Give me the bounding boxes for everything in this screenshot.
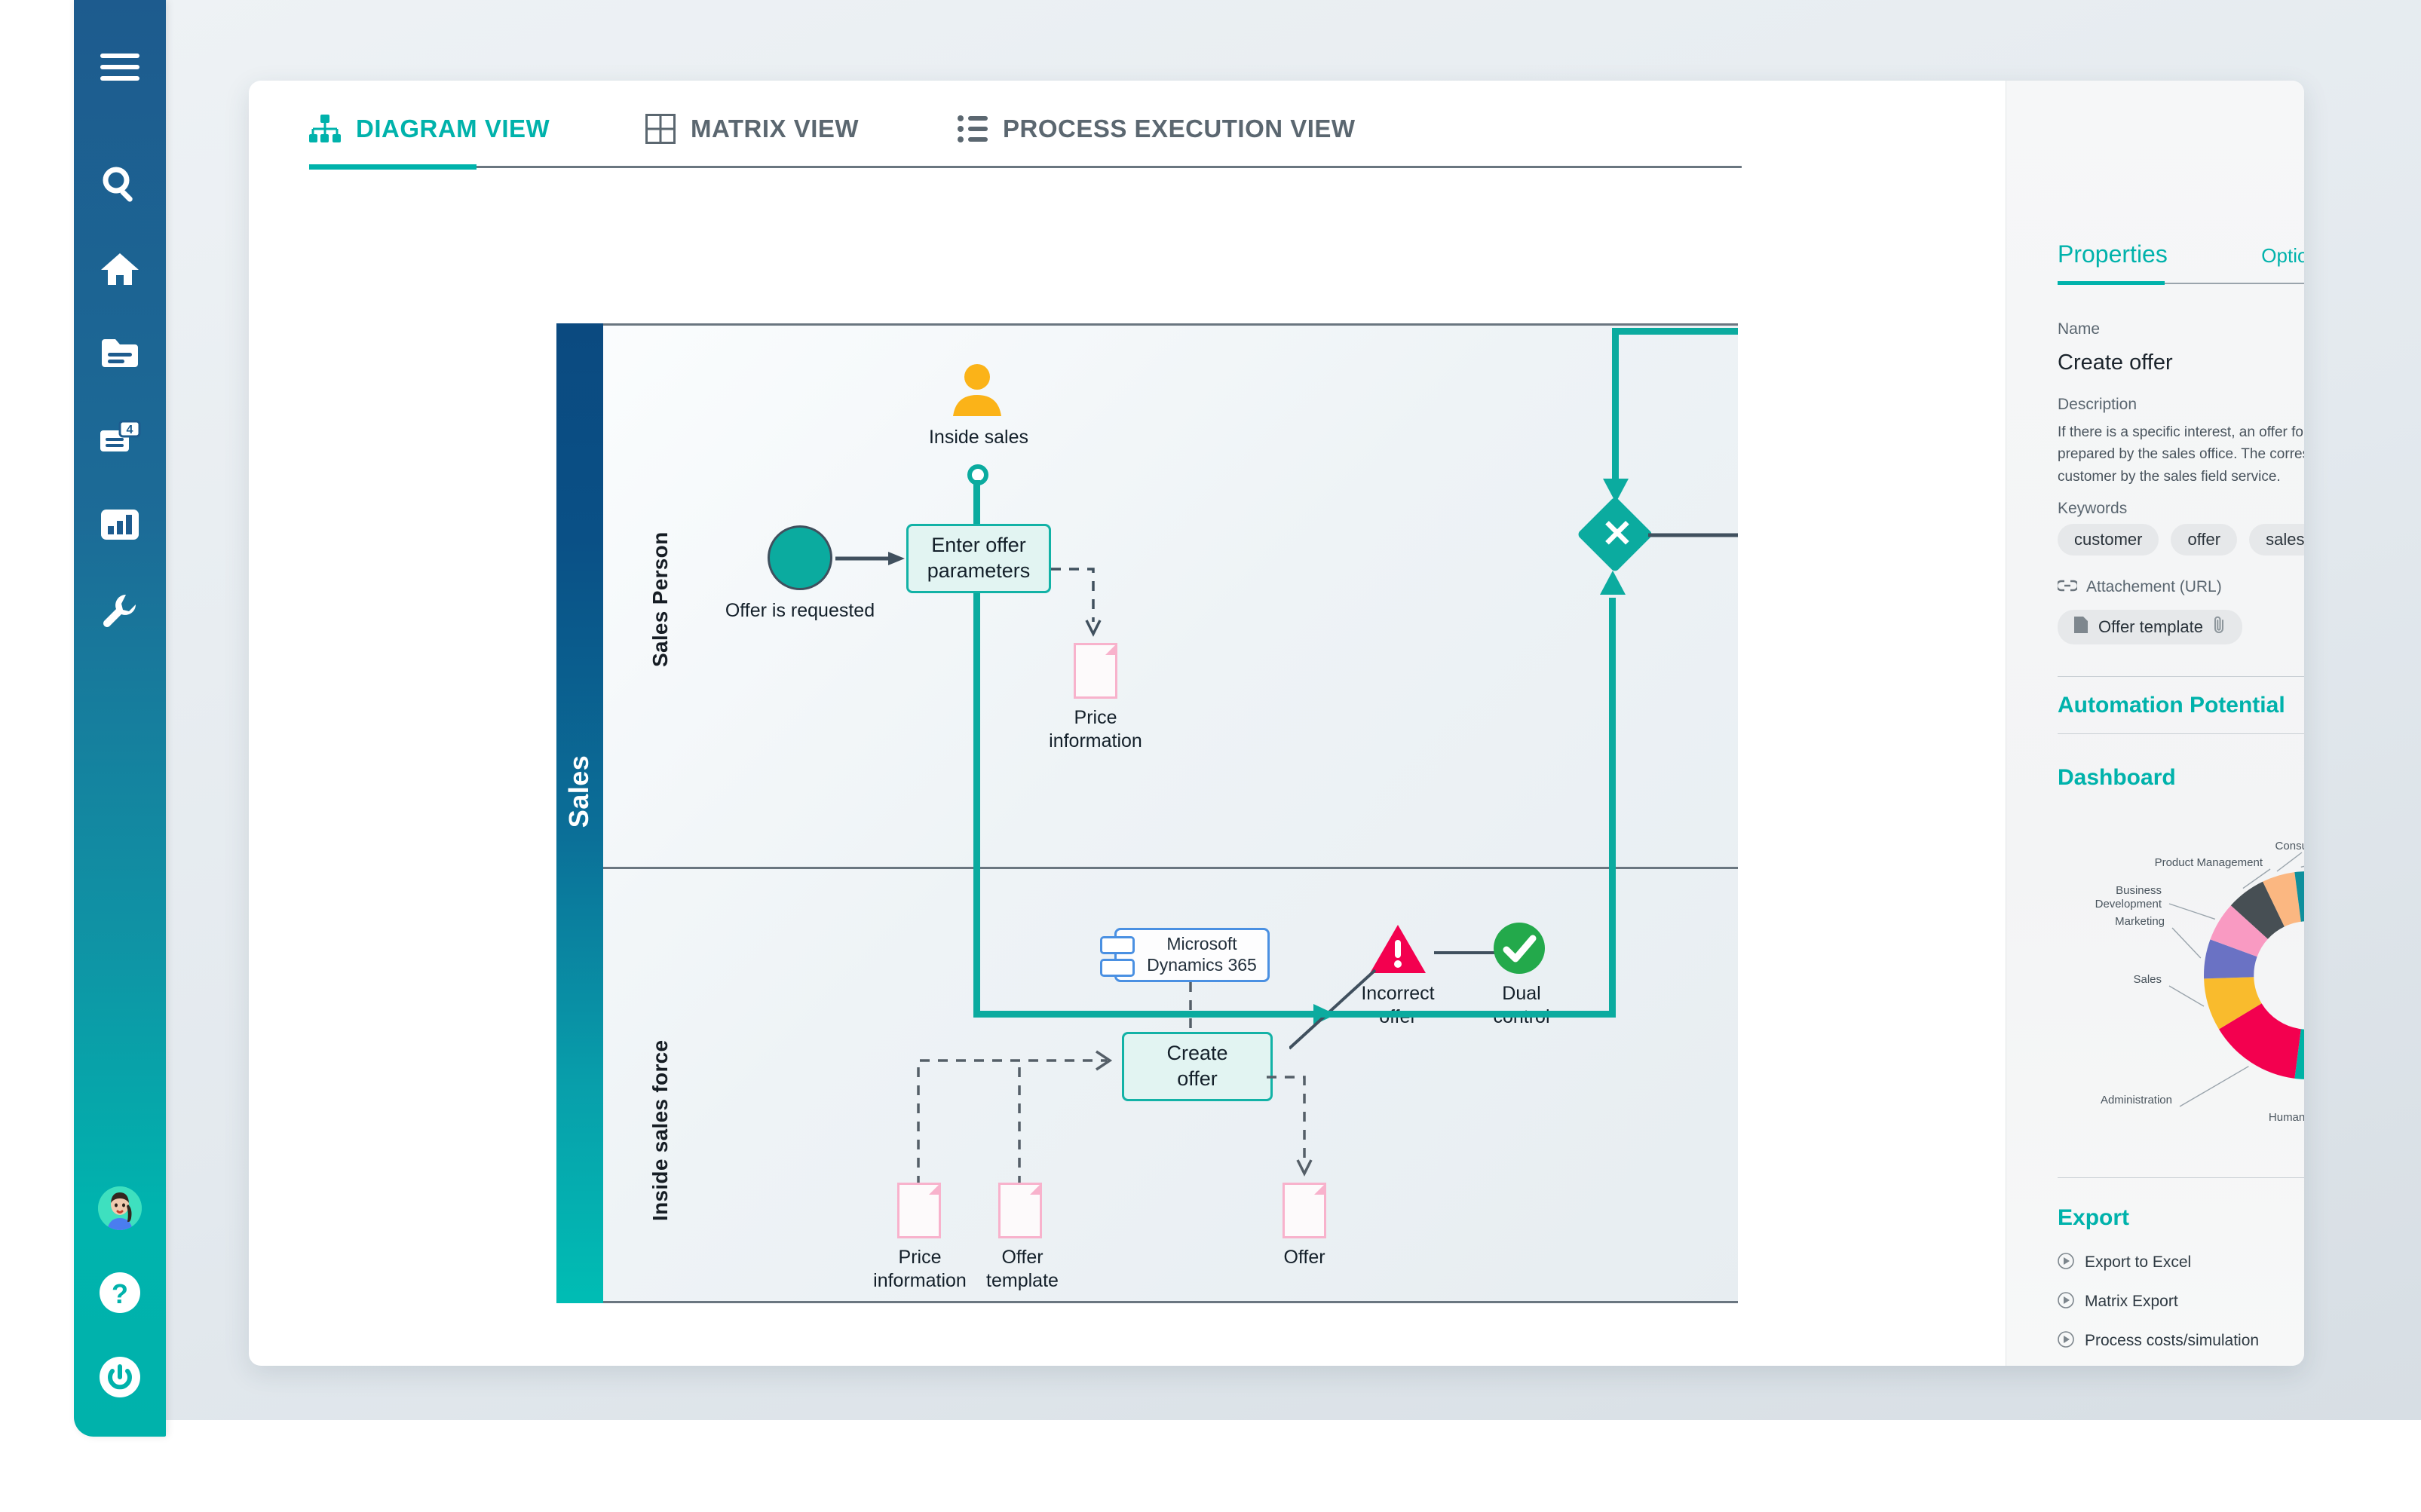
description-value[interactable]: If there is a specific interest, an offe… <box>2058 421 2304 488</box>
document-price-information-top[interactable] <box>1074 643 1117 699</box>
tab-matrix-view-label: MATRIX VIEW <box>691 115 859 143</box>
swimlane-pool-area <box>556 323 1738 1303</box>
document-offer-bottom[interactable] <box>1283 1183 1326 1238</box>
export-title: Export <box>2058 1205 2129 1231</box>
avatar[interactable] <box>74 1185 166 1232</box>
flow-enter-offer-down <box>973 593 980 1017</box>
question-mark-icon[interactable]: ? <box>74 1269 166 1316</box>
flow-top-horizontal <box>1612 328 1738 335</box>
donut-label-administration: Administration <box>2101 1094 2172 1106</box>
donut-label-sales: Sales <box>2133 973 2162 986</box>
keyword-chip-customer[interactable]: customer <box>2058 524 2159 556</box>
donut-leader-line <box>2169 904 2215 919</box>
tab-options[interactable]: Options <box>2261 244 2304 278</box>
svg-text:?: ? <box>112 1278 128 1309</box>
pool-label: Sales <box>563 686 595 897</box>
power-icon[interactable] <box>74 1354 166 1400</box>
keyword-chip-sales[interactable]: sales <box>2249 524 2304 556</box>
donut-leader-line <box>2277 852 2302 871</box>
tab-process-execution-view-label: PROCESS EXECUTION VIEW <box>1003 115 1356 143</box>
org-chart-icon <box>309 114 341 144</box>
association-create-offer-to-offer-doc <box>1265 1068 1333 1185</box>
properties-panel-tabs: Properties Options <box>2058 240 2304 279</box>
keyword-chip-offer[interactable]: offer <box>2171 524 2237 556</box>
connector-risk-to-control <box>1434 946 1496 960</box>
lane-label-inside-sales-force: Inside sales force <box>648 1040 673 1221</box>
system-microsoft-dynamics-365-bottom-label: Microsoft Dynamics 365 <box>1147 934 1257 975</box>
donut-label-business-development: BusinessDevelopment <box>2095 884 2162 911</box>
lane-label-sales-person: Sales Person <box>648 532 673 667</box>
sequence-flow-gateway-to-create-offer <box>1648 526 1738 548</box>
start-event[interactable] <box>768 525 832 590</box>
donut-label-marketing: Marketing <box>2115 915 2165 928</box>
flow-create-offer-to-gateway-h <box>1273 1011 1616 1018</box>
name-label: Name <box>2058 320 2100 338</box>
keywords-chips: customer offer sales <box>2058 524 2304 556</box>
message-badge-count: 4 <box>127 424 133 436</box>
automation-potential-title: Automation Potential <box>2058 693 2285 718</box>
screenshot-root: 4 ? <box>0 0 2421 1512</box>
grid-icon <box>645 114 676 144</box>
start-event-label: Offer is requested <box>707 599 893 623</box>
donut-label-consulting: Consulting <box>2275 840 2304 852</box>
pool-band-sales: Sales <box>556 323 603 1303</box>
export-row-export-to-excel[interactable]: Export to Excel <box>2058 1250 2304 1275</box>
properties-tab-underline <box>2058 281 2165 285</box>
attachment-value: Offer template <box>2098 617 2203 637</box>
task-create-offer-bottom[interactable]: Create offer <box>1122 1032 1273 1101</box>
tab-properties[interactable]: Properties <box>2058 240 2168 279</box>
left-nav-rail: 4 ? <box>74 0 166 1437</box>
flow-into-gateway-vertical <box>1612 328 1619 486</box>
tab-matrix-view[interactable]: MATRIX VIEW <box>645 103 859 155</box>
flow-arrow-up-into-gateway <box>1597 569 1629 606</box>
attachment-chip[interactable]: Offer template <box>2058 610 2242 644</box>
bar-chart-icon[interactable] <box>74 501 166 548</box>
export-label-process-costs-simulation: Process costs/simulation <box>2085 1332 2259 1350</box>
message-icon[interactable]: 4 <box>74 415 166 461</box>
export-label-export-to-excel: Export to Excel <box>2085 1253 2191 1272</box>
automation-potential-donut-chart[interactable]: FinanceHuman ResourcesAdministrationSale… <box>2014 798 2304 1156</box>
control-label-dual-control: Dual control <box>1461 982 1582 1030</box>
tab-process-execution-view[interactable]: PROCESS EXECUTION VIEW <box>958 103 1356 155</box>
document-offer-template-label: Offer template <box>962 1246 1083 1293</box>
export-row-matrix-export[interactable]: Matrix Export <box>2058 1290 2304 1314</box>
link-icon <box>2058 580 2077 595</box>
donut-chart-svg: FinanceHuman ResourcesAdministrationSale… <box>2014 798 2304 1152</box>
donut-leader-line <box>2172 928 2201 958</box>
actor-label-inside-sales: Inside sales <box>888 426 1069 449</box>
main-content-card: DIAGRAM VIEW MATRIX VIEW PROCESS EXECUTI… <box>249 81 2304 1366</box>
tabs-divider <box>309 166 1742 168</box>
gateway-x-symbol: ✕ <box>1601 515 1633 552</box>
active-tab-underline <box>309 164 477 170</box>
donut-leader-line <box>2169 986 2204 1006</box>
lane-divider <box>603 867 1738 869</box>
document-offer-bottom-label: Offer <box>1244 1246 1365 1269</box>
paperclip-icon <box>2214 616 2226 638</box>
hamburger-menu-icon[interactable] <box>74 44 166 90</box>
actor-icon-inside-sales <box>948 362 1006 423</box>
tab-diagram-view-label: DIAGRAM VIEW <box>356 115 550 143</box>
document-price-information-top-label: Price information <box>1020 706 1171 754</box>
donut-leader-line <box>2180 1067 2248 1106</box>
name-value[interactable]: Create offer <box>2058 350 2173 375</box>
home-icon[interactable] <box>74 246 166 292</box>
properties-panel: Properties Options Name Create offer Des… <box>2006 81 2304 1366</box>
system-connector-tab-lower-bottom <box>1100 959 1135 977</box>
play-circle-icon <box>2058 1292 2074 1312</box>
divider-below-automation <box>2058 733 2304 734</box>
sequence-flow-start-to-enter-offer <box>835 549 906 571</box>
search-icon[interactable] <box>74 161 166 207</box>
keywords-label: Keywords <box>2058 500 2127 518</box>
association-system-to-create-offer-bottom <box>1188 982 1194 1036</box>
view-tabs: DIAGRAM VIEW MATRIX VIEW PROCESS EXECUTI… <box>249 81 1749 177</box>
task-enter-offer-parameters[interactable]: Enter offer parameters <box>906 524 1051 593</box>
play-circle-icon <box>2058 1253 2074 1273</box>
donut-label-human-resources: Human Resources <box>2269 1111 2304 1124</box>
play-circle-icon <box>2058 1331 2074 1351</box>
task-enter-offer-parameters-label: Enter offer parameters <box>927 533 1031 584</box>
tab-diagram-view[interactable]: DIAGRAM VIEW <box>309 103 550 155</box>
document-price-information-bottom[interactable] <box>897 1183 941 1238</box>
system-connector-tab-upper-bottom <box>1100 936 1135 954</box>
export-row-process-costs-simulation[interactable]: Process costs/simulation <box>2058 1329 2304 1353</box>
donut-leader-line <box>2301 852 2304 867</box>
export-label-matrix-export: Matrix Export <box>2085 1293 2178 1311</box>
folder-icon[interactable] <box>74 330 166 377</box>
document-offer-template[interactable] <box>998 1183 1042 1238</box>
attachment-label: Attachement (URL) <box>2086 578 2222 596</box>
attachment-label-row: Attachement (URL) <box>2058 578 2222 596</box>
task-create-offer-bottom-label: Create offer <box>1166 1041 1227 1092</box>
dashboard-title: Dashboard <box>2058 765 2176 791</box>
divider-above-automation <box>2058 676 2304 677</box>
system-microsoft-dynamics-365-bottom[interactable]: Microsoft Dynamics 365 <box>1114 928 1270 982</box>
list-icon <box>958 115 988 143</box>
wrench-icon[interactable] <box>74 588 166 635</box>
association-inputs-to-create-offer <box>906 1044 1132 1191</box>
association-enter-offer-to-price-info <box>1050 560 1117 647</box>
description-label: Description <box>2058 396 2137 414</box>
file-icon <box>2074 617 2088 638</box>
divider-above-export <box>2058 1177 2304 1178</box>
donut-label-product-management: Product Management <box>2155 856 2263 869</box>
diagram-canvas[interactable]: Sales Sales Person Inside sales force In… <box>249 245 1738 1366</box>
flow-create-offer-to-gateway-v <box>1609 598 1616 1017</box>
control-icon-dual-control[interactable] <box>1493 922 1546 978</box>
